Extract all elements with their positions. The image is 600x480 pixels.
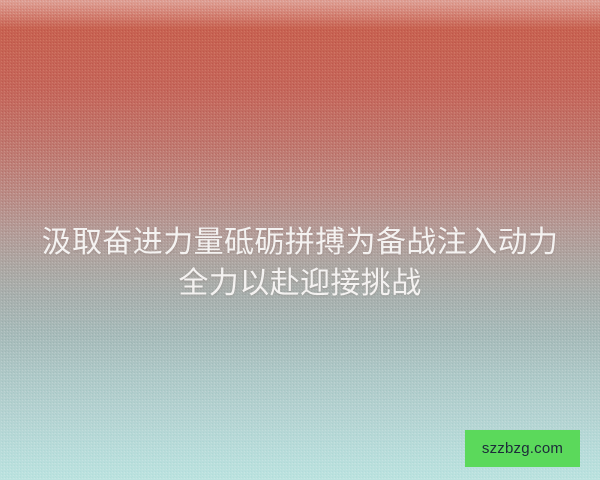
watermark-badge[interactable]: szzbzg.com [465,430,580,467]
page-title: 汲取奋进力量砥砺拼搏为备战注入动力全力以赴迎接挑战 [0,222,600,304]
watermark-label: szzbzg.com [482,441,563,456]
cover-image-card: 汲取奋进力量砥砺拼搏为备战注入动力全力以赴迎接挑战 szzbzg.com [0,0,600,480]
